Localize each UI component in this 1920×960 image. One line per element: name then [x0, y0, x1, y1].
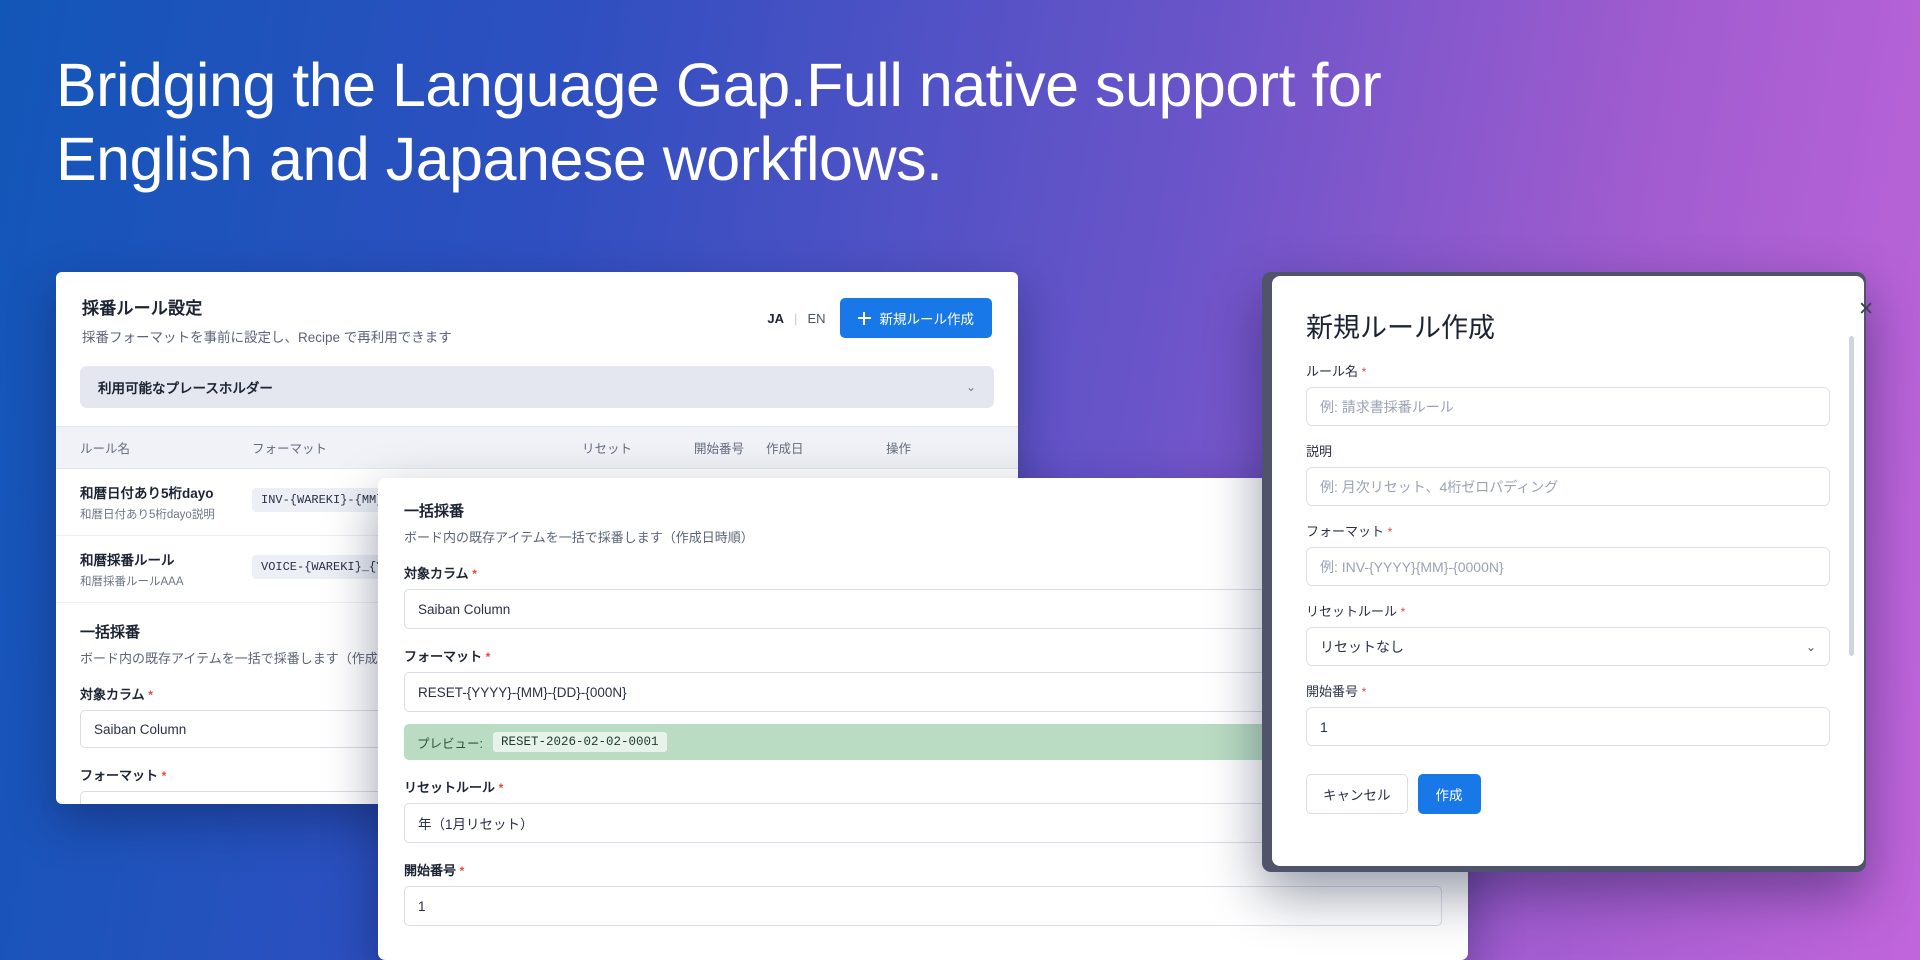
bulk-format-label-text: フォーマット	[80, 768, 158, 783]
modal-reset-rule-label: リセットルール *	[1306, 601, 1830, 620]
rule-desc-text: 和暦日付あり5桁dayo説明	[80, 506, 252, 522]
mid-reset-rule-label-text: リセットルール	[404, 780, 495, 795]
plus-icon	[858, 312, 871, 325]
modal-format-placeholder: 例: INV-{YYYY}{MM}-{0000N}	[1320, 557, 1504, 577]
mid-start-number-input[interactable]: 1	[404, 886, 1442, 926]
lang-option-ja[interactable]: JA	[767, 311, 784, 326]
rule-name-text: 和暦採番ルール	[80, 549, 252, 569]
modal-description-label-text: 説明	[1306, 444, 1332, 459]
close-icon[interactable]: ✕	[1858, 300, 1874, 319]
rules-table-header: ルール名 フォーマット リセット 開始番号 作成日 操作	[56, 426, 1018, 469]
mid-start-number-value: 1	[418, 899, 426, 914]
modal-start-number-label-text: 開始番号	[1306, 684, 1358, 699]
left-card-header-actions: JA | EN 新規ルール作成	[767, 294, 992, 338]
required-asterisk: *	[148, 688, 153, 702]
bulk-format-value: RESET-{YYYY}-{MM}-{DD}-{000N}	[94, 803, 303, 805]
new-rule-button-label: 新規ルール作成	[880, 308, 975, 328]
available-placeholders-label: 利用可能なプレースホルダー	[98, 377, 273, 397]
rule-name-text: 和暦日付あり5桁dayo	[80, 482, 252, 502]
cancel-button[interactable]: キャンセル	[1306, 774, 1408, 814]
mid-format-value: RESET-{YYYY}-{MM}-{DD}-{000N}	[418, 685, 627, 700]
modal-rule-name-label-text: ルール名	[1306, 364, 1358, 379]
required-asterisk: *	[1362, 365, 1367, 379]
lang-divider: |	[794, 311, 797, 326]
modal-rule-name-label: ルール名 *	[1306, 361, 1830, 380]
preview-value: RESET-2026-02-02-0001	[493, 732, 667, 752]
new-rule-button[interactable]: 新規ルール作成	[840, 298, 993, 338]
chevron-down-icon: ⌄	[966, 380, 976, 394]
th-created-date: 作成日	[766, 438, 886, 457]
th-rule-name: ルール名	[80, 438, 252, 457]
modal-rule-name-placeholder: 例: 請求書採番ルール	[1320, 397, 1454, 417]
modal-description-label: 説明	[1306, 441, 1830, 460]
th-reset: リセット	[582, 438, 694, 457]
modal-format-label: フォーマット *	[1306, 521, 1830, 540]
left-card-header: 採番ルール設定 採番フォーマットを事前に設定し、Recipe で再利用できます …	[56, 272, 1018, 360]
th-operations: 操作	[886, 438, 966, 457]
mid-start-number-label-text: 開始番号	[404, 863, 456, 878]
create-rule-modal: 新規ルール作成 ルール名 * 例: 請求書採番ルール 説明 例: 月次リセット、…	[1272, 276, 1864, 866]
settings-title: 採番ルール設定	[82, 294, 452, 319]
required-asterisk: *	[162, 769, 167, 783]
required-asterisk: *	[1401, 605, 1406, 619]
language-switcher[interactable]: JA | EN	[767, 311, 825, 326]
settings-subtitle: 採番フォーマットを事前に設定し、Recipe で再利用できます	[82, 326, 452, 346]
available-placeholders-accordion[interactable]: 利用可能なプレースホルダー ⌄	[80, 366, 994, 408]
rule-name-cell: 和暦日付あり5桁dayo 和暦日付あり5桁dayo説明	[80, 482, 252, 522]
modal-format-label-text: フォーマット	[1306, 524, 1384, 539]
required-asterisk: *	[460, 864, 465, 878]
mid-target-column-value: Saiban Column	[418, 602, 510, 617]
chevron-down-icon: ⌄	[1806, 640, 1816, 654]
modal-description-placeholder: 例: 月次リセット、4桁ゼロパディング	[1320, 477, 1558, 497]
mid-target-column-label-text: 対象カラム	[404, 566, 469, 581]
bulk-target-column-value: Saiban Column	[94, 722, 186, 737]
rule-name-cell: 和暦採番ルール 和暦採番ルールAAA	[80, 549, 252, 589]
bulk-target-column-label-text: 対象カラム	[80, 687, 145, 702]
mid-format-label-text: フォーマット	[404, 649, 482, 664]
required-asterisk: *	[499, 781, 504, 795]
modal-title: 新規ルール作成	[1306, 306, 1830, 345]
modal-reset-rule-value: リセットなし	[1320, 637, 1404, 657]
mid-reset-rule-value: 年（1月リセット）	[418, 813, 534, 833]
modal-action-bar: キャンセル 作成	[1306, 774, 1830, 814]
modal-format-input[interactable]: 例: INV-{YYYY}{MM}-{0000N}	[1306, 547, 1830, 586]
th-start-number: 開始番号	[694, 438, 766, 457]
required-asterisk: *	[1388, 525, 1393, 539]
page-title: Bridging the Language Gap.Full native su…	[56, 48, 1616, 197]
required-asterisk: *	[472, 567, 477, 581]
left-card-header-text: 採番ルール設定 採番フォーマットを事前に設定し、Recipe で再利用できます	[82, 294, 452, 346]
modal-start-number-input[interactable]: 1	[1306, 707, 1830, 746]
modal-reset-rule-label-text: リセットルール	[1306, 604, 1397, 619]
modal-start-number-label: 開始番号 *	[1306, 681, 1830, 700]
rule-desc-text: 和暦採番ルールAAA	[80, 573, 252, 589]
create-button[interactable]: 作成	[1418, 774, 1481, 814]
required-asterisk: *	[486, 650, 491, 664]
lang-option-en[interactable]: EN	[807, 311, 825, 326]
preview-label: プレビュー:	[417, 733, 483, 752]
modal-start-number-value: 1	[1320, 719, 1328, 735]
modal-scrollbar[interactable]	[1849, 336, 1854, 656]
th-format: フォーマット	[252, 438, 582, 457]
modal-rule-name-input[interactable]: 例: 請求書採番ルール	[1306, 387, 1830, 426]
required-asterisk: *	[1362, 685, 1367, 699]
modal-reset-rule-select[interactable]: リセットなし ⌄	[1306, 627, 1830, 666]
modal-description-input[interactable]: 例: 月次リセット、4桁ゼロパディング	[1306, 467, 1830, 506]
